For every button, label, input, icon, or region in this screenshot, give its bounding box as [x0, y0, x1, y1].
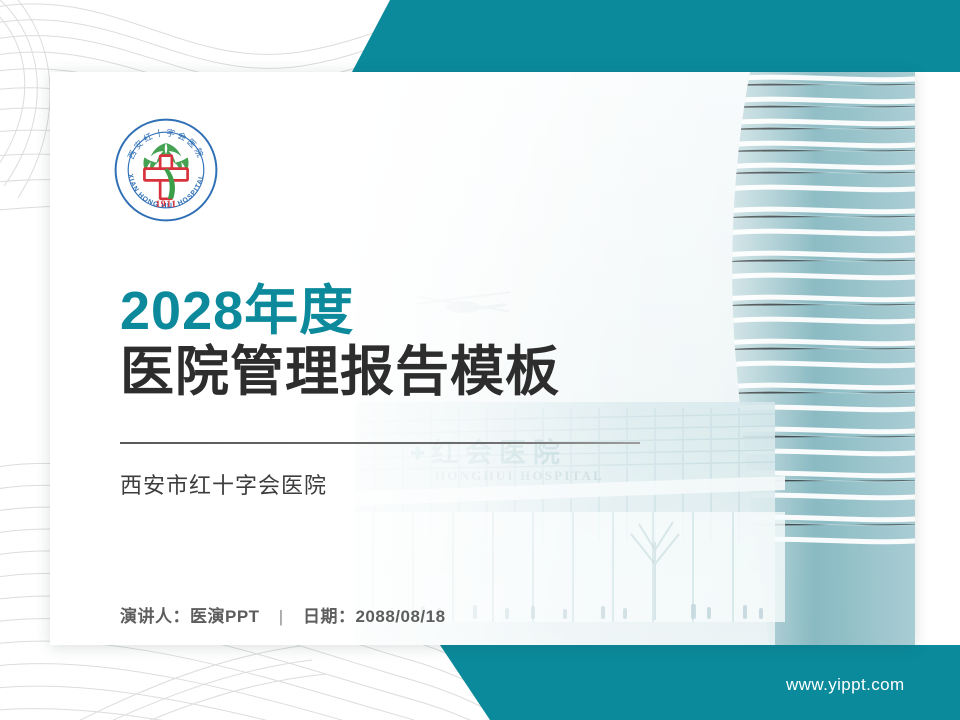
title-main: 医院管理报告模板 [120, 340, 760, 406]
title-block: 2028年度 医院管理报告模板 西安市红十字会医院 [120, 282, 760, 500]
logo-founded-year: 1911 [155, 199, 176, 210]
title-divider [120, 442, 640, 444]
date-label: 日期：2088/08/18 [303, 607, 446, 626]
slide-content-card: 红会医院 HONGHUI HOSPITAL 西安红十字会医院 XIAN HONG… [50, 72, 915, 645]
website-url: www.yippt.com [786, 675, 905, 695]
presenter-date-meta: 演讲人：医演PPT | 日期：2088/08/18 [120, 602, 446, 627]
xian-honghui-hospital-logo: 西安红十字会医院 XIAN HONG HUI HOSPITAL 1911 [112, 116, 220, 224]
meta-separator: | [265, 607, 298, 627]
presenter-label: 演讲人：医演PPT [120, 607, 260, 626]
presentation-slide: 红会医院 HONGHUI HOSPITAL 西安红十字会医院 XIAN HONG… [0, 0, 960, 720]
subtitle: 西安市红十字会医院 [120, 468, 760, 500]
title-year: 2028年度 [120, 282, 760, 340]
